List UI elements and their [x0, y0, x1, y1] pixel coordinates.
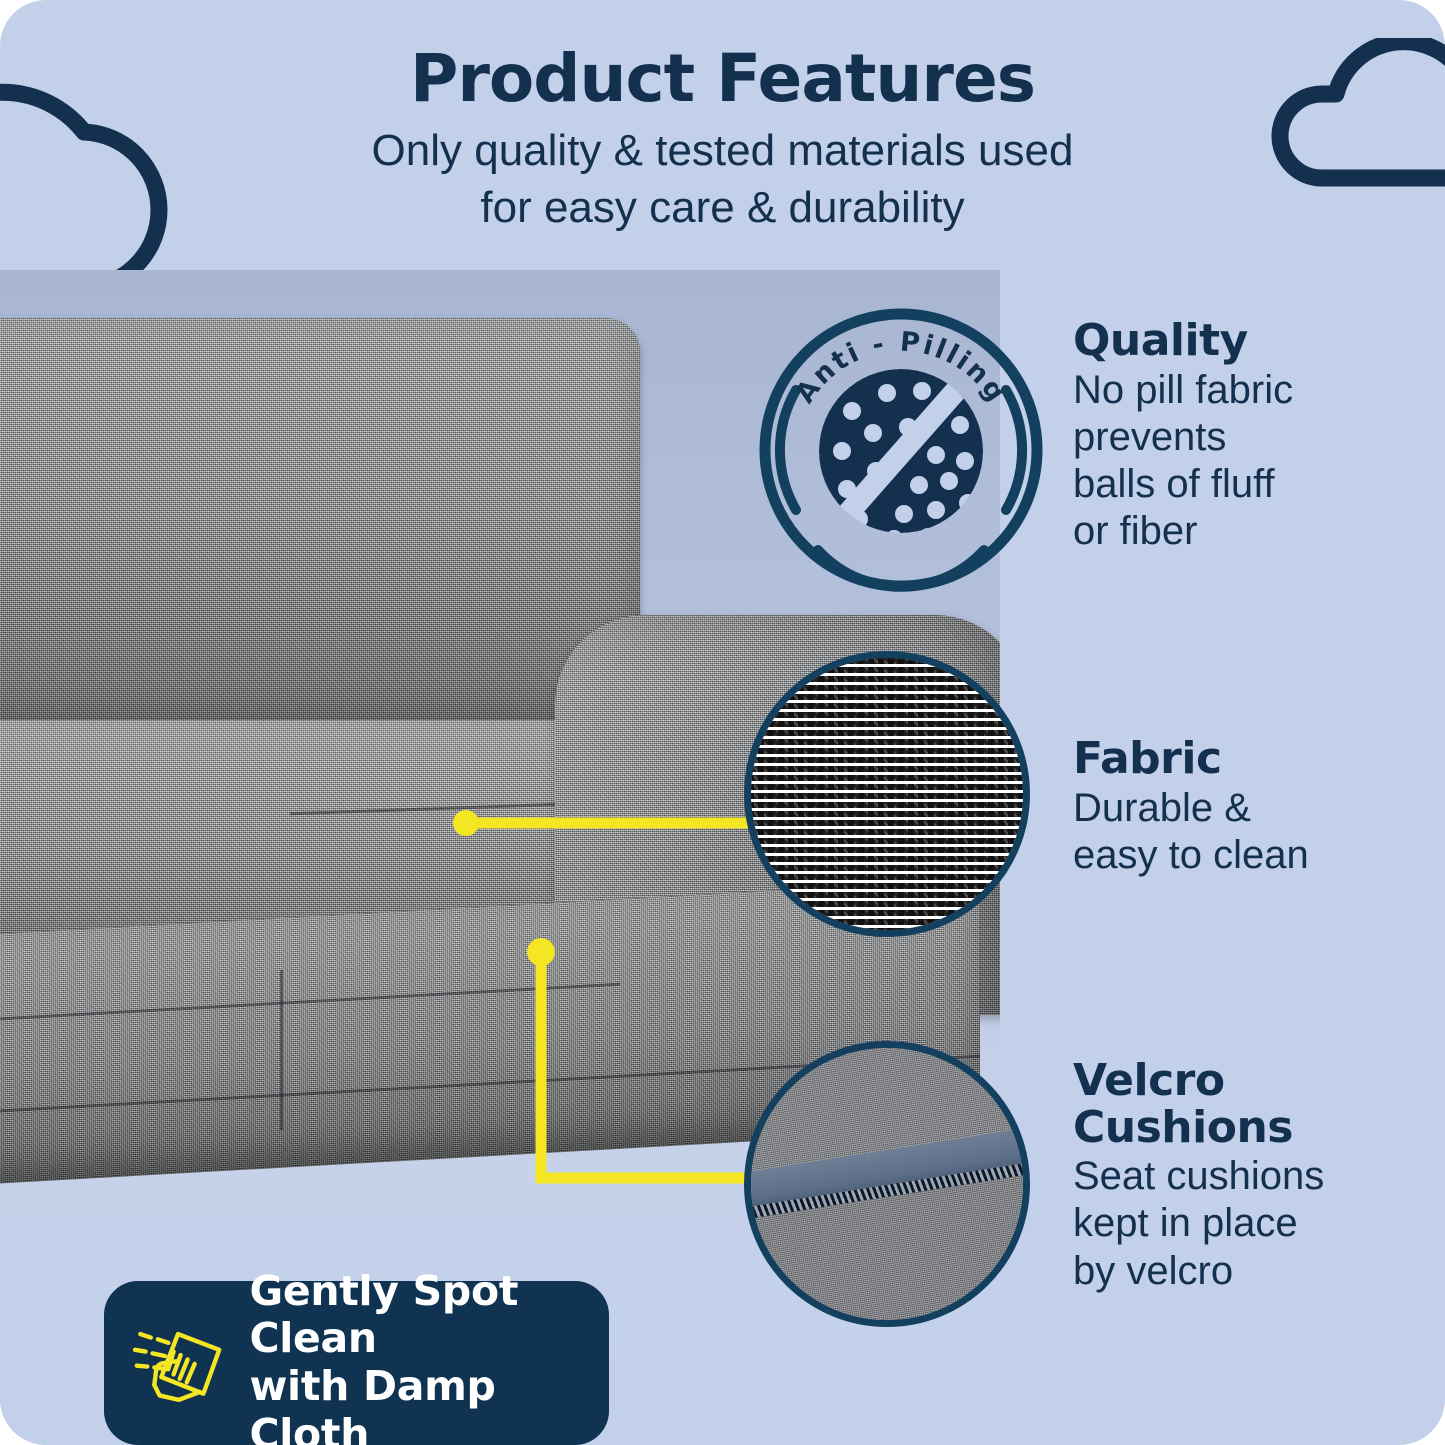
- feature-velcro-title: Velcro Cushions: [1073, 1058, 1433, 1151]
- feature-fabric-title: Fabric: [1073, 736, 1423, 783]
- header: Product Features Only quality & tested m…: [0, 44, 1445, 236]
- anti-pilling-badge-icon: Anti - Pilling: [756, 305, 1046, 595]
- sofa-backrest-shading: [0, 318, 640, 748]
- velcro-body-line-3: by velcro: [1073, 1248, 1433, 1295]
- velcro-body-line-1: Seat cushions: [1073, 1153, 1433, 1200]
- care-instruction-badge: Gently Spot Clean with Damp Cloth: [104, 1281, 609, 1445]
- velcro-closeup-inset: [744, 1041, 1030, 1327]
- subtitle-line-2: for easy care & durability: [0, 180, 1445, 236]
- quality-body-line-3: balls of fluff: [1073, 461, 1423, 508]
- base-seam-vertical: [280, 970, 283, 1130]
- fabric-body-line-1: Durable &: [1073, 785, 1423, 832]
- quality-body-line-2: prevents: [1073, 414, 1423, 461]
- velcro-macro-photo: [744, 1041, 1030, 1327]
- page-title: Product Features: [0, 44, 1445, 113]
- subtitle-line-1: Only quality & tested materials used: [0, 123, 1445, 179]
- feature-quality-body: No pill fabric prevents balls of fluff o…: [1073, 367, 1423, 556]
- fabric-macro-photo: [744, 651, 1030, 937]
- feature-quality: Anti - Pilling: [756, 305, 1046, 600]
- feature-quality-text: Quality No pill fabric prevents balls of…: [1073, 318, 1423, 555]
- feature-quality-title: Quality: [1073, 318, 1423, 365]
- feature-velcro-text: Velcro Cushions Seat cushions kept in pl…: [1073, 1058, 1433, 1295]
- quality-body-line-4: or fiber: [1073, 508, 1423, 555]
- feature-velcro-body: Seat cushions kept in place by velcro: [1073, 1153, 1433, 1295]
- hand-wiping-cloth-icon: [128, 1304, 231, 1422]
- velcro-title-line-1: Velcro: [1073, 1058, 1433, 1105]
- quality-body-line-1: No pill fabric: [1073, 367, 1423, 414]
- care-badge-text: Gently Spot Clean with Damp Cloth: [249, 1268, 609, 1445]
- care-badge-line-2: with Damp Cloth: [249, 1363, 609, 1445]
- velcro-title-line-2: Cushions: [1073, 1105, 1433, 1152]
- feature-fabric-body: Durable & easy to clean: [1073, 785, 1423, 879]
- velcro-body-line-2: kept in place: [1073, 1200, 1433, 1247]
- fabric-closeup-inset: [744, 651, 1030, 937]
- infographic-canvas: Product Features Only quality & tested m…: [0, 0, 1445, 1445]
- fabric-body-line-2: easy to clean: [1073, 832, 1423, 879]
- page-subtitle: Only quality & tested materials used for…: [0, 123, 1445, 236]
- care-badge-line-1: Gently Spot Clean: [249, 1268, 609, 1363]
- feature-fabric-text: Fabric Durable & easy to clean: [1073, 736, 1423, 879]
